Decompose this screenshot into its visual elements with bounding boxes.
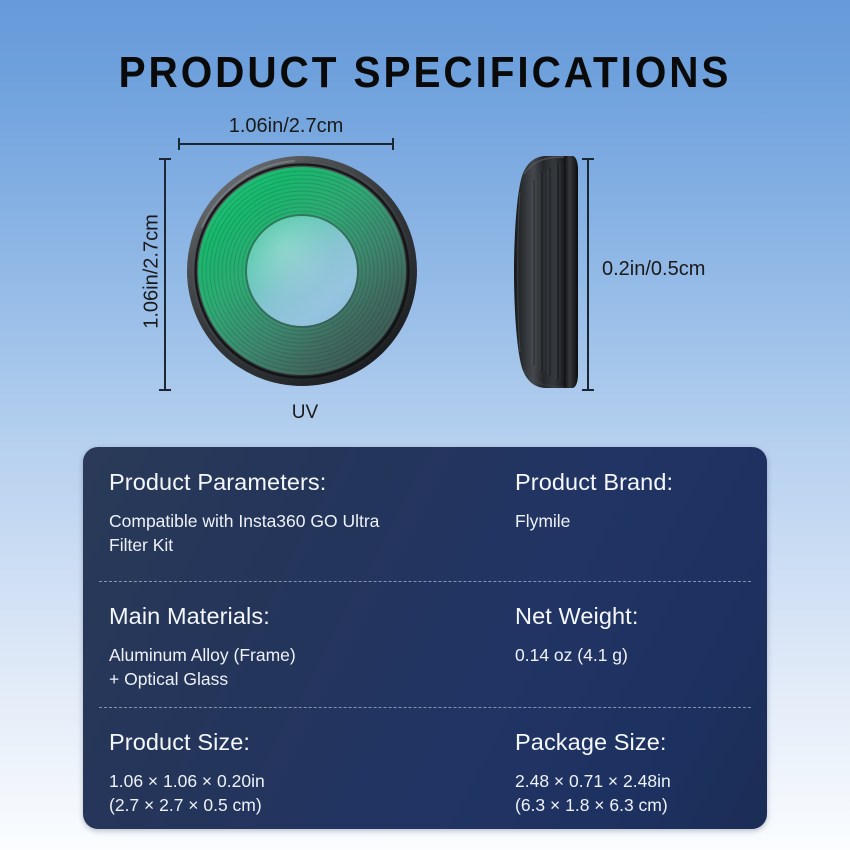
spec-value-line: Flymile [515, 510, 767, 534]
product-dimension-diagram: 1.06in/2.7cm 1.06in/2.7cm 0.2in/0.5cm UV [0, 0, 850, 440]
uv-filter-side-view-icon [512, 152, 590, 392]
spec-value-line: Compatible with Insta360 GO Ultra [109, 510, 497, 534]
spec-value-line: Aluminum Alloy (Frame) [109, 644, 497, 668]
spec-label: Package Size: [515, 729, 767, 756]
spec-value-line: (2.7 × 2.7 × 0.5 cm) [109, 794, 497, 818]
spec-label: Main Materials: [109, 603, 497, 630]
spec-value-line: Filter Kit [109, 534, 497, 558]
spec-row: Product Parameters: Compatible with Inst… [83, 447, 767, 581]
specifications-panel: Product Parameters: Compatible with Inst… [83, 447, 767, 829]
spec-value: Flymile [515, 510, 767, 534]
spec-value-line: 2.48 × 0.71 × 2.48in [515, 770, 767, 794]
thickness-dimension-label: 0.2in/0.5cm [602, 258, 705, 281]
spec-value-line: + Optical Glass [109, 668, 497, 692]
spec-value-line: (6.3 × 1.8 × 6.3 cm) [515, 794, 767, 818]
spec-value-line: 0.14 oz (4.1 g) [515, 644, 767, 668]
height-dimension-label: 1.06in/2.7cm [141, 207, 164, 337]
spec-label: Net Weight: [515, 603, 767, 630]
spec-cell-product-brand: Product Brand: Flymile [497, 447, 767, 581]
spec-cell-product-size: Product Size: 1.06 × 1.06 × 0.20in (2.7 … [83, 707, 497, 829]
spec-row: Product Size: 1.06 × 1.06 × 0.20in (2.7 … [83, 707, 767, 829]
spec-value: 1.06 × 1.06 × 0.20in (2.7 × 2.7 × 0.5 cm… [109, 770, 497, 817]
spec-cell-product-parameters: Product Parameters: Compatible with Inst… [83, 447, 497, 581]
spec-value: 2.48 × 0.71 × 2.48in (6.3 × 1.8 × 6.3 cm… [515, 770, 767, 817]
spec-value-line: 1.06 × 1.06 × 0.20in [109, 770, 497, 794]
spec-label: Product Size: [109, 729, 497, 756]
spec-value: 0.14 oz (4.1 g) [515, 644, 767, 668]
spec-label: Product Brand: [515, 469, 767, 496]
spec-cell-net-weight: Net Weight: 0.14 oz (4.1 g) [497, 581, 767, 707]
spec-row: Main Materials: Aluminum Alloy (Frame) +… [83, 581, 767, 707]
spec-value: Compatible with Insta360 GO Ultra Filter… [109, 510, 497, 557]
width-measurement-line [178, 143, 394, 145]
spec-cell-package-size: Package Size: 2.48 × 0.71 × 2.48in (6.3 … [497, 707, 767, 829]
width-dimension-label: 1.06in/2.7cm [177, 115, 395, 138]
height-measurement-line [164, 158, 166, 391]
spec-label: Product Parameters: [109, 469, 497, 496]
filter-type-label: UV [240, 402, 370, 424]
spec-cell-main-materials: Main Materials: Aluminum Alloy (Frame) +… [83, 581, 497, 707]
product-specification-page: PRODUCT SPECIFICATIONS 1.06in/2.7cm 1.06… [0, 0, 850, 850]
uv-filter-front-view-icon [186, 155, 418, 387]
spec-value: Aluminum Alloy (Frame) + Optical Glass [109, 644, 497, 691]
